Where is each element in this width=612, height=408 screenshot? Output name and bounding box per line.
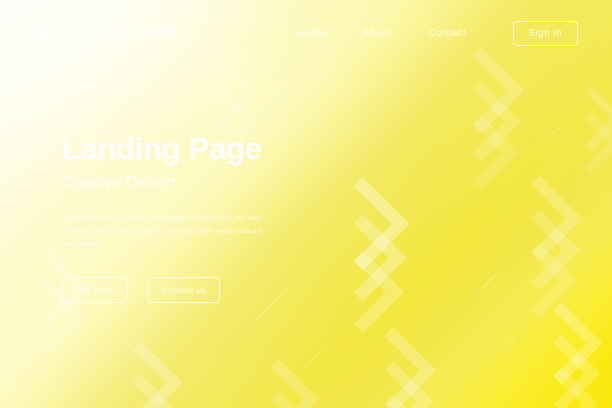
chevron-arrow-shape: [561, 112, 612, 173]
landing-page-banner: COMPANY NAME Home About Contact Sign in …: [0, 0, 612, 408]
chevron-arrow-shape: [526, 367, 598, 408]
diagonal-light-streak: [126, 329, 148, 351]
diagonal-light-streak: [196, 80, 235, 119]
chevron-arrow-shape: [350, 328, 436, 408]
chevron-arrow-shape: [239, 360, 319, 408]
chevron-arrow-shape: [89, 341, 192, 408]
nav-item-about[interactable]: About: [363, 27, 392, 39]
chevron-arrow-shape: [241, 391, 316, 408]
cta-button-row: Try Now Contact us: [62, 277, 352, 303]
page-subtitle: Creative Design: [62, 174, 352, 192]
diagonal-light-streak: [470, 261, 511, 302]
chevron-arrow-shape: [502, 243, 577, 318]
chevron-arrow-shape: [353, 361, 434, 408]
chevron-arrow-shape: [512, 302, 611, 401]
chevron-arrow-shape: [560, 86, 612, 148]
nav-item-home[interactable]: Home: [297, 27, 326, 39]
hero-body-text: Lorem ipsum dolor sit amet, consectetuer…: [62, 213, 274, 251]
chevron-arrow-shape: [340, 328, 448, 408]
chevron-arrow-shape: [356, 395, 431, 408]
nav-item-contact[interactable]: Contact: [428, 27, 467, 39]
brand-logo[interactable]: COMPANY NAME: [36, 23, 179, 43]
chevron-arrow-shape: [232, 360, 326, 408]
cube-logo-icon: [36, 23, 56, 43]
sign-in-button[interactable]: Sign in: [513, 21, 578, 46]
chevron-arrow-shape: [521, 302, 603, 384]
chevron-arrow-shape: [496, 176, 582, 262]
chevron-arrow-shape: [523, 335, 600, 408]
chevron-arrow-shape: [499, 209, 580, 290]
diagonal-light-streak: [300, 344, 329, 373]
chevron-arrow-shape: [444, 115, 519, 190]
chevron-arrow-shape: [101, 374, 180, 408]
main-navigation: Home About Contact Sign in: [297, 21, 578, 46]
contact-us-button[interactable]: Contact us: [148, 277, 220, 303]
diagonal-light-streak: [566, 92, 587, 113]
diagonal-light-streak: [500, 327, 526, 353]
chevron-arrow-shape: [185, 57, 260, 132]
diagonal-light-streak: [540, 115, 572, 147]
page-title: Landing Page: [62, 132, 352, 165]
try-now-button[interactable]: Try Now: [62, 277, 128, 303]
site-header: COMPANY NAME Home About Contact Sign in: [0, 0, 612, 66]
chevron-arrow-shape: [441, 81, 522, 162]
chevron-arrow-shape: [98, 341, 182, 408]
brand-name: COMPANY NAME: [65, 26, 179, 40]
chevron-arrow-shape: [559, 86, 612, 151]
chevron-arrow-shape: [486, 176, 594, 284]
chevron-arrow-shape: [181, 57, 262, 138]
hero-section: Landing Page Creative Design Lorem ipsum…: [62, 132, 352, 303]
